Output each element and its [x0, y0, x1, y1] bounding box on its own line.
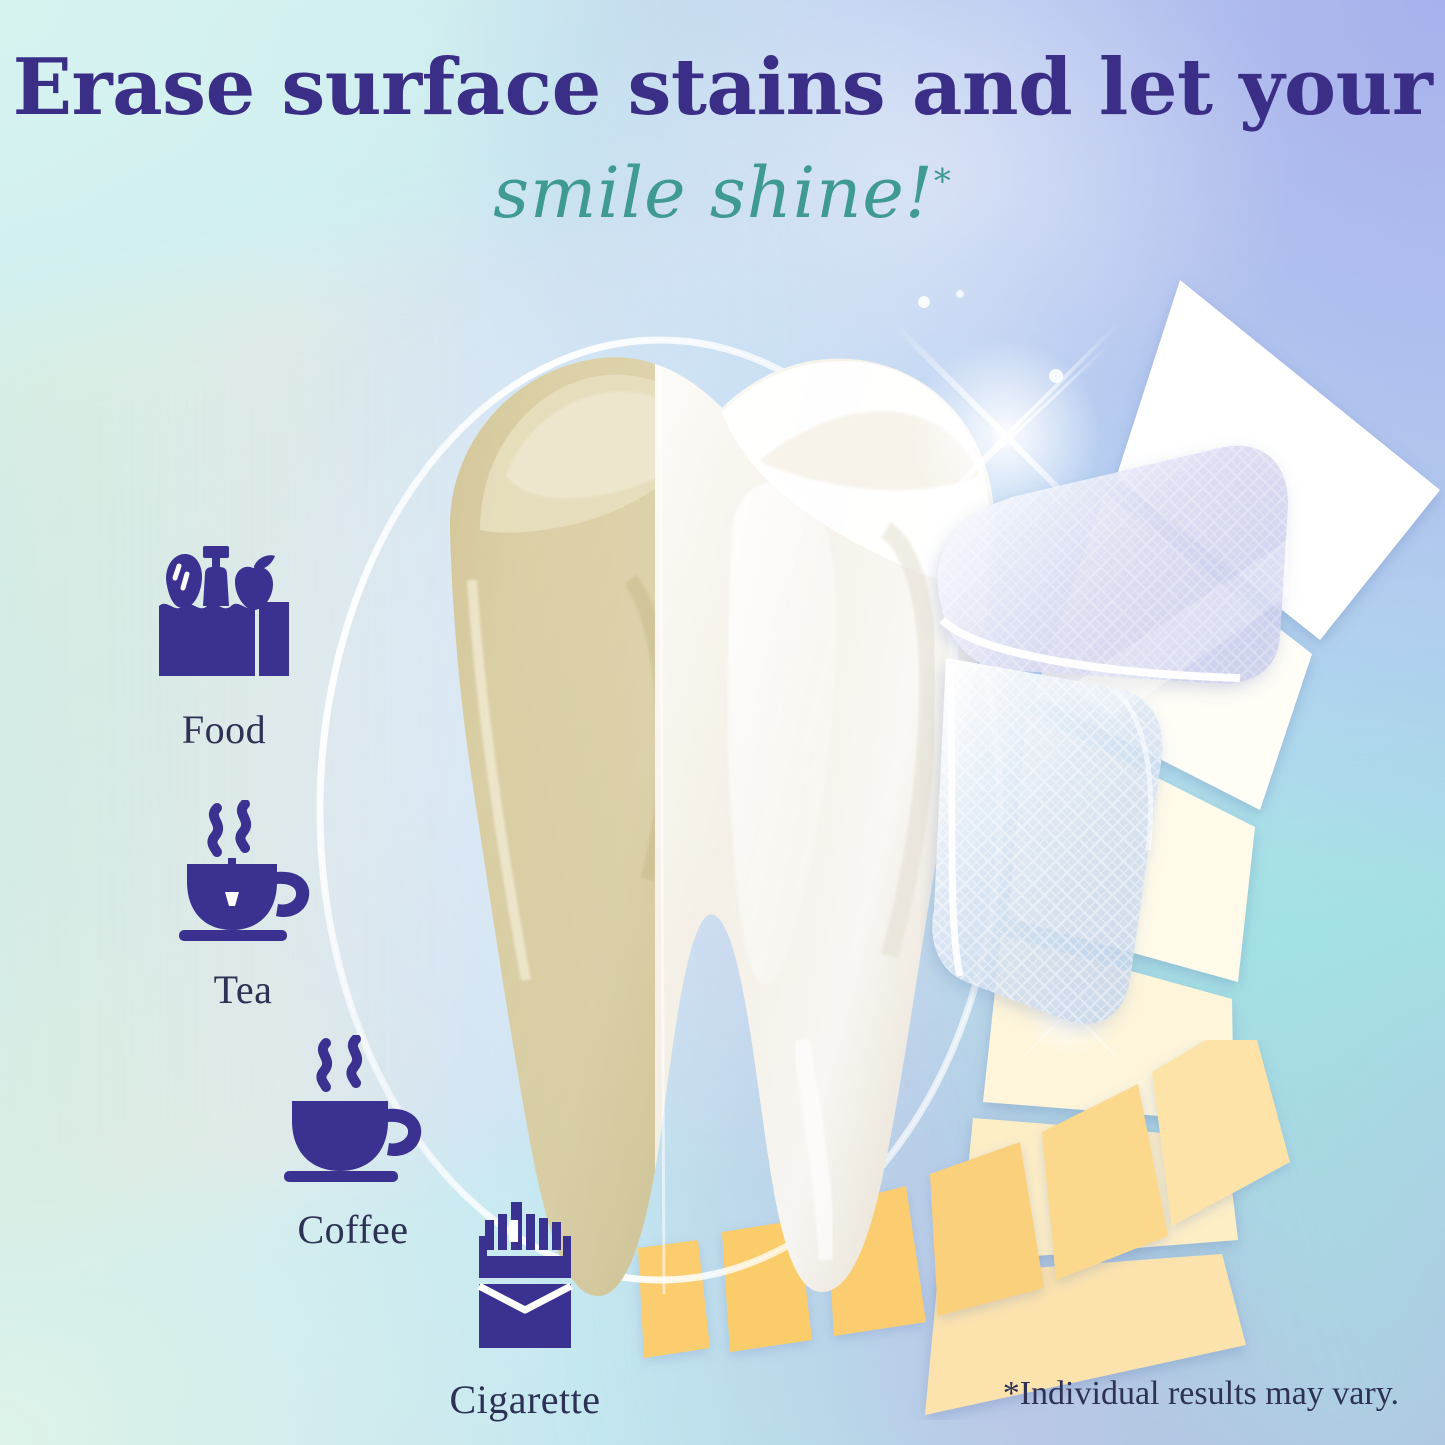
stain-source-tea: Tea	[128, 800, 358, 1013]
cigarette-pack-icon	[465, 1200, 585, 1360]
stain-source-label: Tea	[128, 966, 358, 1013]
stain-source-cigarette: Cigarette	[420, 1200, 630, 1423]
teacup-icon	[173, 800, 313, 950]
stain-source-label: Food	[104, 706, 344, 753]
stain-source-label: Cigarette	[420, 1376, 630, 1423]
page-subtitle: smile shine!*	[0, 152, 1445, 234]
grocery-bag-icon	[149, 540, 299, 690]
page-title: Erase surface stains and let your	[0, 48, 1445, 128]
whitening-strip	[920, 420, 1350, 1040]
page-subtitle-text: smile shine!	[493, 152, 934, 234]
stain-source-food: Food	[104, 540, 344, 753]
coffee-cup-icon	[278, 1035, 428, 1190]
footnote-disclaimer: *Individual results may vary.	[1003, 1375, 1399, 1413]
asterisk-marker: *	[934, 162, 952, 202]
whitening-strips-poster: Erase surface stains and let your smile …	[0, 0, 1445, 1445]
